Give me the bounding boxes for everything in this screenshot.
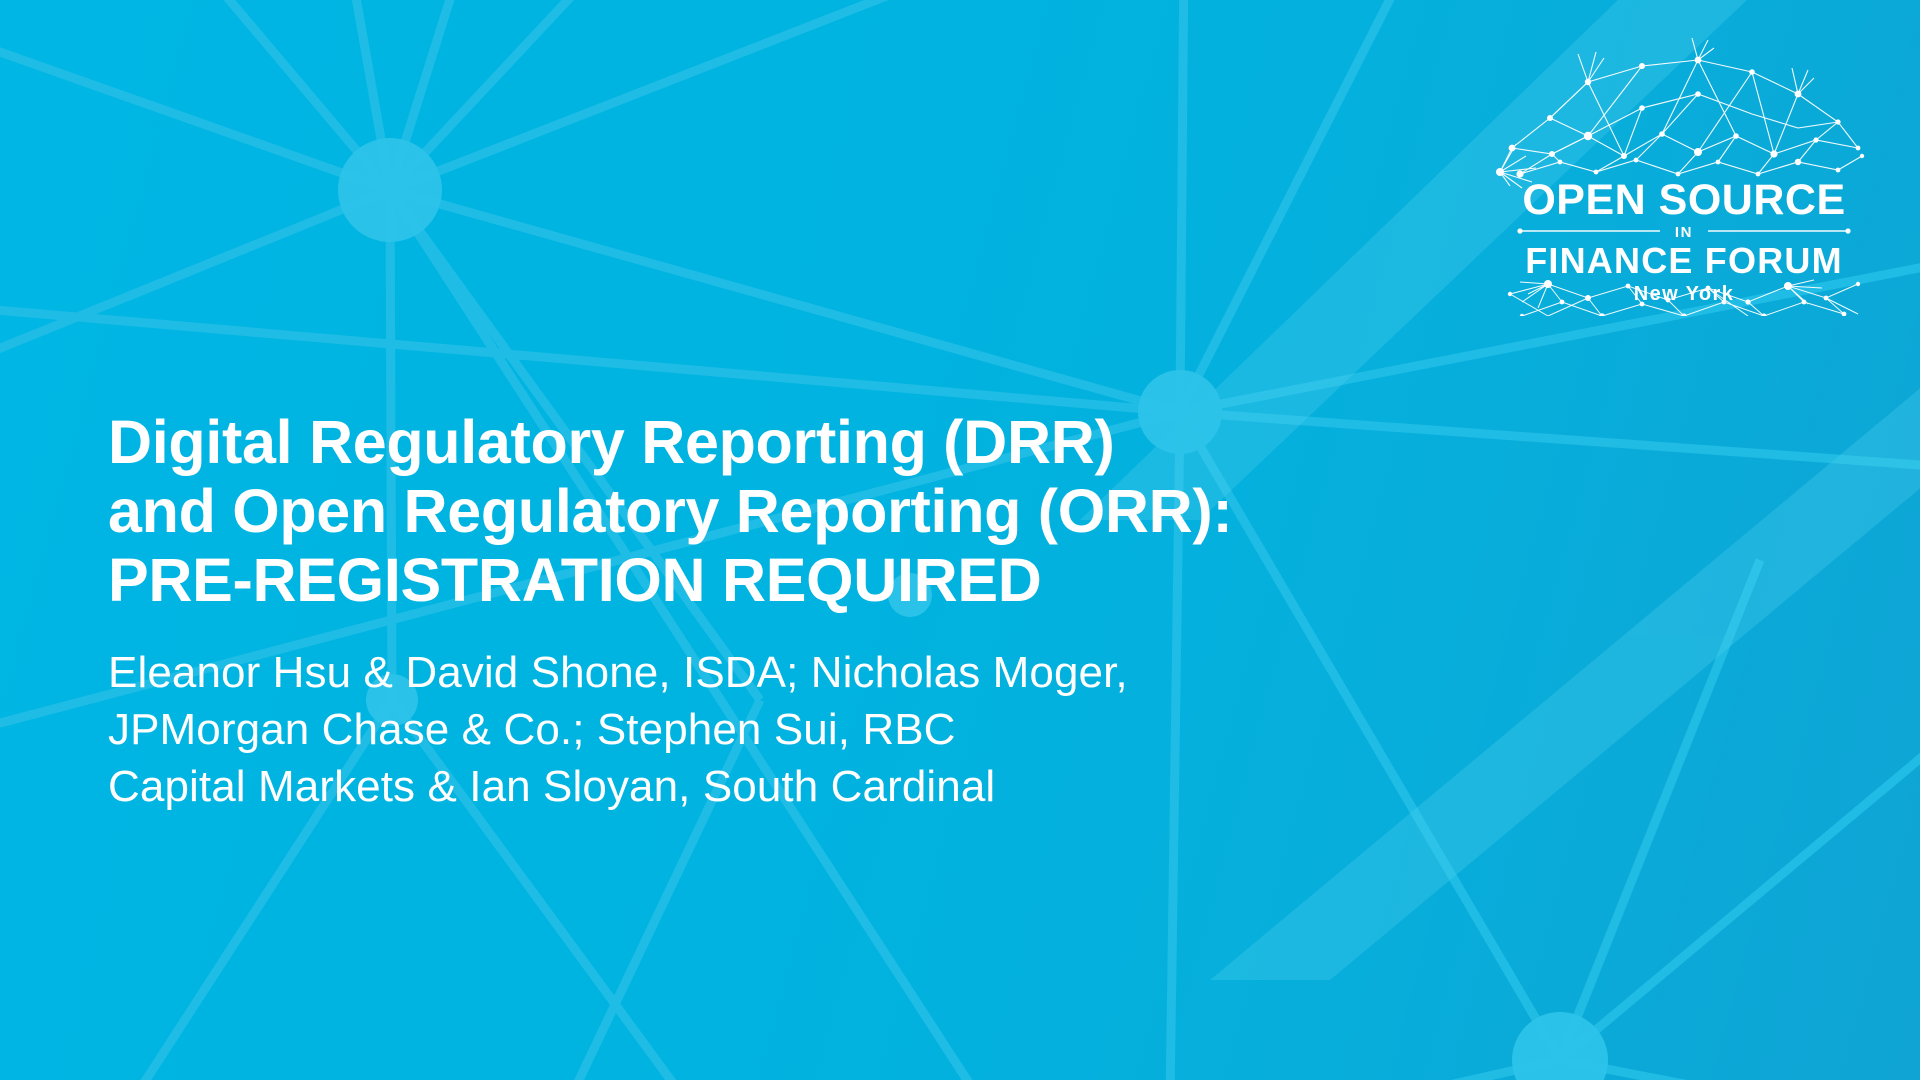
open-source-in-finance-forum-logo: OPEN SOURCE IN FINANCE FORUM New York — [1492, 36, 1876, 316]
slide-canvas: OPEN SOURCE IN FINANCE FORUM New York — [0, 0, 1920, 1080]
page-title: Digital Regulatory Reporting (DRR) and O… — [108, 408, 1588, 616]
speakers-subtitle: Eleanor Hsu & David Shone, ISDA; Nichola… — [108, 644, 1588, 816]
logo-finance-forum-text: FINANCE FORUM — [1525, 240, 1843, 281]
logo-city-text: New York — [1634, 283, 1735, 305]
logo-open-source-text: OPEN SOURCE — [1522, 176, 1845, 224]
logo-in-text: IN — [1675, 224, 1693, 241]
title-block: Digital Regulatory Reporting (DRR) and O… — [108, 408, 1588, 815]
